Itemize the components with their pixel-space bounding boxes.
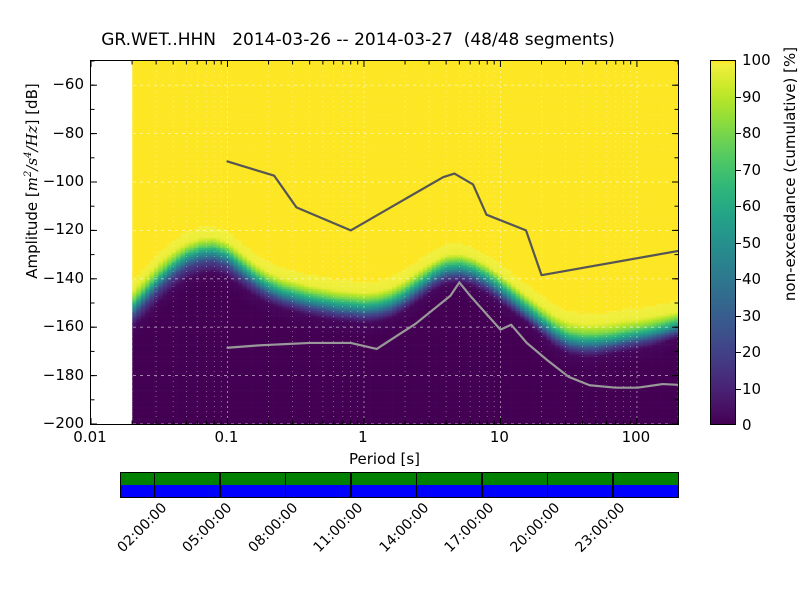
colorbar-tick-90: 90 (742, 88, 761, 106)
colorbar-tick-40: 40 (742, 270, 761, 288)
coverage-band-bottom (121, 485, 678, 497)
timeline-tick-110000: 11:00:00 (311, 500, 367, 556)
coverage-tick (612, 473, 613, 497)
colorbar-tickmark (736, 352, 741, 353)
timeline-tick-140000: 14:00:00 (376, 500, 432, 556)
y-axis-unit-denominator: s (23, 158, 41, 166)
colorbar-title: non-exceedance (cumulative) [%] (781, 0, 799, 364)
colorbar-tick-60: 60 (742, 197, 761, 215)
ppsd-plot-area[interactable] (90, 60, 679, 425)
y-axis-title: Amplitude [m2/s4/Hz] [dB] (23, 0, 41, 371)
colorbar-tickmark (736, 97, 741, 98)
x-tick-100: 100 (622, 428, 651, 446)
timeline-tick-050000: 05:00:00 (180, 500, 236, 556)
colorbar-gradient (711, 61, 735, 424)
ppsd-figure: GR.WET..HHN 2014-03-26 -- 2014-03-27 (48… (0, 0, 800, 600)
coverage-tick (350, 473, 351, 497)
colorbar-tickmark (736, 206, 741, 207)
colorbar-tick-70: 70 (742, 161, 761, 179)
coverage-tick (154, 473, 155, 497)
colorbar-tickmark (736, 389, 741, 390)
colorbar-tick-0: 0 (742, 416, 752, 434)
data-coverage-bar[interactable] (120, 472, 679, 498)
timeline-ticklabels: 02:00:0005:00:0008:00:0011:00:0014:00:00… (120, 500, 679, 570)
x-tick-10: 10 (490, 428, 509, 446)
coverage-band-top (121, 473, 678, 485)
colorbar-tick-50: 50 (742, 234, 761, 252)
x-axis-title: Period [s] (90, 450, 679, 468)
coverage-tick (416, 473, 417, 497)
y-axis-title-suffix: ] [dB] (23, 83, 41, 125)
y-axis-unit-numerator-exp: 2 (23, 171, 34, 177)
timeline-tick-170000: 17:00:00 (442, 500, 498, 556)
timeline-tick-020000: 02:00:00 (114, 500, 170, 556)
colorbar-ticklabels: 1009080706050403020100 (736, 60, 776, 425)
plot-overlay (91, 61, 678, 424)
colorbar[interactable] (710, 60, 736, 425)
x-tick-1: 1 (358, 428, 368, 446)
colorbar-tickmark (736, 133, 741, 134)
timeline-tick-200000: 20:00:00 (507, 500, 563, 556)
colorbar-tickmark (736, 243, 741, 244)
timeline-tick-230000: 23:00:00 (573, 500, 629, 556)
x-tick-0.1: 0.1 (215, 428, 239, 446)
coverage-tick (219, 473, 220, 497)
y-axis-unit-denominator-exp: 4 (23, 151, 34, 157)
coverage-tick (285, 473, 286, 497)
timeline-tick-080000: 08:00:00 (245, 500, 301, 556)
colorbar-tickmark (736, 279, 741, 280)
y-axis-unit-hz: Hz (23, 125, 41, 146)
y-axis-title-prefix: Amplitude [ (23, 191, 41, 279)
colorbar-tick-30: 30 (742, 307, 761, 325)
x-tick-0.01: 0.01 (73, 428, 106, 446)
colorbar-tick-100: 100 (742, 51, 771, 69)
colorbar-tick-20: 20 (742, 343, 761, 361)
colorbar-tick-10: 10 (742, 380, 761, 398)
colorbar-tickmark (736, 170, 741, 171)
coverage-tick (481, 473, 482, 497)
coverage-tick (547, 473, 548, 497)
figure-title: GR.WET..HHN 2014-03-26 -- 2014-03-27 (48… (0, 30, 716, 50)
y-axis-unit-numerator: m (23, 177, 41, 191)
colorbar-tickmark (736, 316, 741, 317)
colorbar-tick-80: 80 (742, 124, 761, 142)
